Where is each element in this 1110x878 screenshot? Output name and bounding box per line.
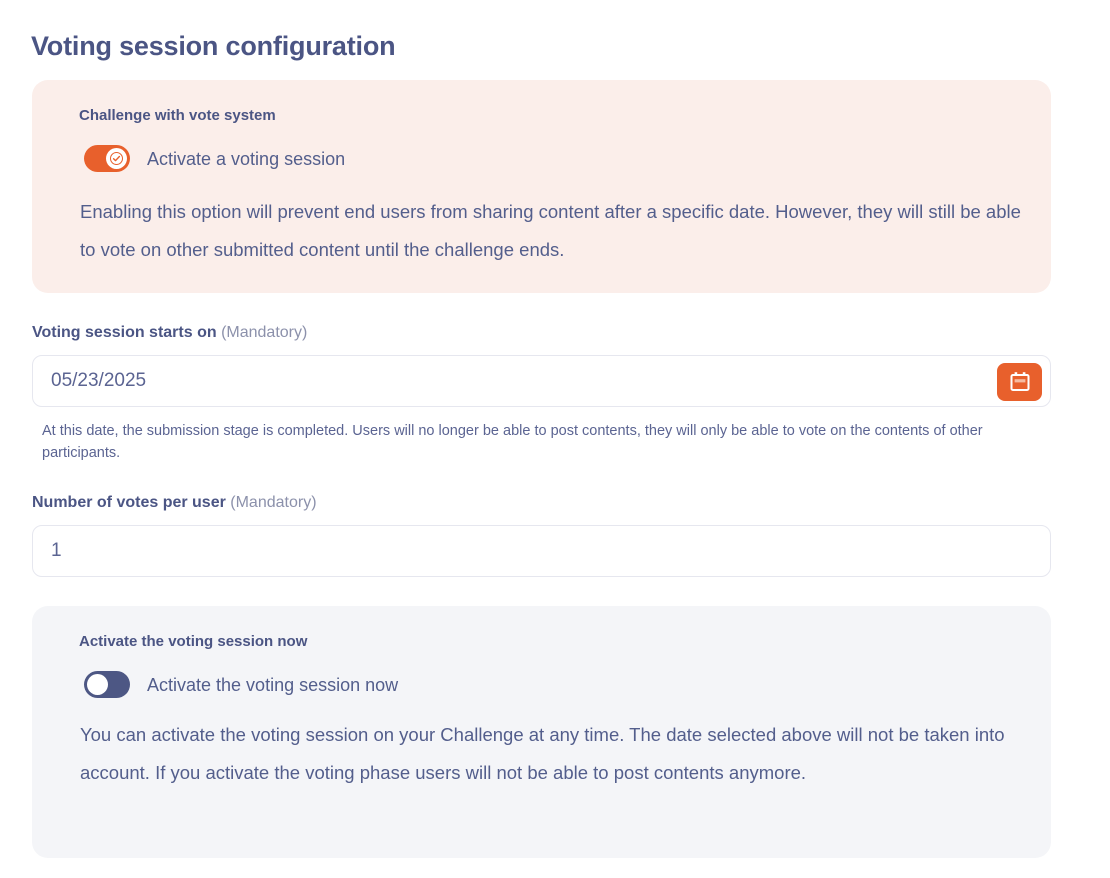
start-date-input[interactable]: 05/23/2025 — [33, 368, 1050, 394]
activate-now-toggle-label: Activate the voting session now — [147, 673, 398, 697]
page-title: Voting session configuration — [31, 28, 395, 64]
votes-per-user-mandatory-marker: (Mandatory) — [226, 494, 317, 511]
voting-session-configuration-page: Voting session configuration Challenge w… — [0, 0, 1110, 878]
toggle-knob — [87, 674, 108, 695]
start-date-helper-text: At this date, the submission stage is co… — [42, 420, 1052, 464]
activate-now-panel-heading: Activate the voting session now — [79, 632, 1027, 652]
vote-system-panel: Challenge with vote system Activate a vo… — [32, 80, 1051, 293]
votes-per-user-label-text: Number of votes per user — [32, 494, 226, 511]
calendar-picker-button[interactable] — [997, 363, 1042, 401]
activate-now-toggle[interactable] — [84, 671, 130, 698]
activate-now-panel: Activate the voting session now Activate… — [32, 606, 1051, 858]
check-icon — [110, 152, 123, 165]
votes-per-user-input[interactable]: 1 — [33, 538, 1050, 564]
vote-system-description: Enabling this option will prevent end us… — [80, 193, 1027, 269]
toggle-knob — [106, 148, 127, 169]
activate-voting-session-toggle-label: Activate a voting session — [147, 147, 345, 171]
vote-system-panel-heading: Challenge with vote system — [79, 106, 1027, 126]
start-date-input-wrap[interactable]: 05/23/2025 — [32, 355, 1051, 407]
activate-now-row[interactable]: Activate the voting session now — [84, 671, 1027, 698]
activate-now-description: You can activate the voting session on y… — [80, 716, 1027, 792]
calendar-icon — [1009, 371, 1031, 393]
activate-voting-session-toggle[interactable] — [84, 145, 130, 172]
votes-per-user-label: Number of votes per user (Mandatory) — [32, 492, 317, 514]
start-date-label-text: Voting session starts on — [32, 324, 217, 341]
start-date-label: Voting session starts on (Mandatory) — [32, 322, 307, 344]
activate-voting-session-row[interactable]: Activate a voting session — [84, 145, 1027, 172]
votes-per-user-input-wrap[interactable]: 1 — [32, 525, 1051, 577]
start-date-mandatory-marker: (Mandatory) — [217, 324, 308, 341]
